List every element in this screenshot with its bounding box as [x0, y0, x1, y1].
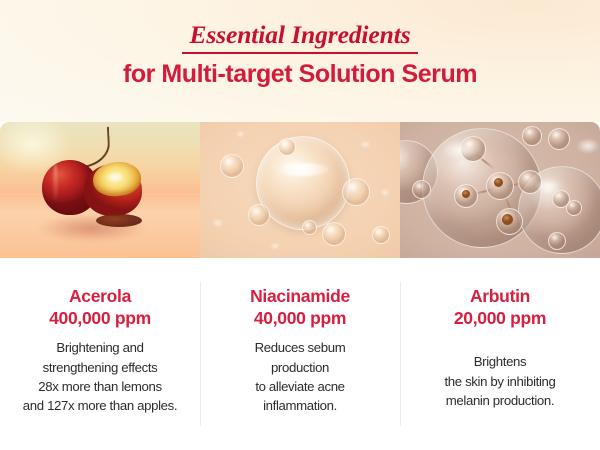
ingredient-name: Arbutin	[412, 286, 588, 307]
niacinamide-serum-drop-photo	[200, 122, 400, 258]
ingredient-card-acerola: Acerola 400,000 ppm Brightening and stre…	[0, 258, 200, 450]
molecule-core	[462, 190, 470, 198]
serum-bubble	[220, 154, 244, 178]
description-line: melanin production.	[412, 391, 588, 410]
ingredient-name: Niacinamide	[212, 286, 388, 307]
molecule-node	[548, 232, 566, 250]
ingredient-card-niacinamide: Niacinamide 40,000 ppm Reduces sebum pro…	[200, 258, 400, 450]
description-line: strengthening effects	[12, 358, 188, 377]
sparkle-icon	[380, 188, 390, 197]
molecule-core	[494, 178, 503, 187]
description-line: Brightens	[412, 352, 588, 371]
description-line: to alleviate acne	[212, 377, 388, 396]
description-line: Brightening and	[12, 338, 188, 357]
photo-highlight	[534, 178, 562, 194]
description-line: the skin by inhibiting	[412, 372, 588, 391]
cherry-juice-drip	[96, 214, 142, 227]
ingredient-amount: 400,000 ppm	[12, 307, 188, 329]
ingredient-photo-band	[0, 122, 600, 258]
molecule-node	[548, 128, 570, 150]
poster-title-primary-text: Essential Ingredients	[186, 22, 413, 54]
serum-bubble	[342, 178, 370, 206]
molecule-node	[412, 180, 431, 199]
sparkle-icon	[236, 130, 245, 138]
acerola-cherries-photo	[0, 122, 200, 258]
arbutin-molecule-bubbles-photo	[400, 122, 600, 258]
description-line: inflammation.	[212, 396, 388, 415]
serum-bubble	[372, 226, 390, 244]
ingredient-description: Reduces sebum production to alleviate ac…	[212, 338, 388, 415]
ingredient-name: Acerola	[12, 286, 188, 307]
ingredient-amount: 20,000 ppm	[412, 307, 588, 329]
description-line: Reduces sebum	[212, 338, 388, 357]
ingredient-infographic-poster: Essential Ingredients for Multi-target S…	[0, 0, 600, 450]
poster-title-primary: Essential Ingredients	[0, 22, 600, 54]
description-line: and 127x more than apples.	[12, 396, 188, 415]
poster-title-secondary: for Multi-target Solution Serum	[0, 62, 600, 87]
description-line: production	[212, 358, 388, 377]
sparkle-icon	[360, 140, 371, 149]
sparkle-icon	[212, 218, 224, 228]
photo-highlight	[442, 140, 476, 160]
ingredient-card-arbutin: Arbutin 20,000 ppm Brightens the skin by…	[400, 258, 600, 450]
photo-highlight	[576, 138, 600, 154]
description-line: 28x more than lemons	[12, 377, 188, 396]
sparkle-icon	[270, 242, 280, 250]
serum-bubble	[248, 204, 270, 226]
molecule-core	[502, 214, 513, 225]
serum-bubble	[278, 138, 296, 156]
ingredient-details-row: Acerola 400,000 ppm Brightening and stre…	[0, 258, 600, 450]
molecule-node	[566, 200, 582, 216]
ingredient-amount: 40,000 ppm	[212, 307, 388, 329]
ingredient-description: Brightening and strengthening effects 28…	[12, 338, 188, 415]
poster-header: Essential Ingredients for Multi-target S…	[0, 0, 600, 122]
ingredient-description: Brightens the skin by inhibiting melanin…	[412, 352, 588, 409]
molecule-node	[522, 126, 542, 146]
serum-bubble	[302, 220, 317, 235]
serum-bubble	[322, 222, 346, 246]
serum-droplet-large	[256, 136, 350, 230]
